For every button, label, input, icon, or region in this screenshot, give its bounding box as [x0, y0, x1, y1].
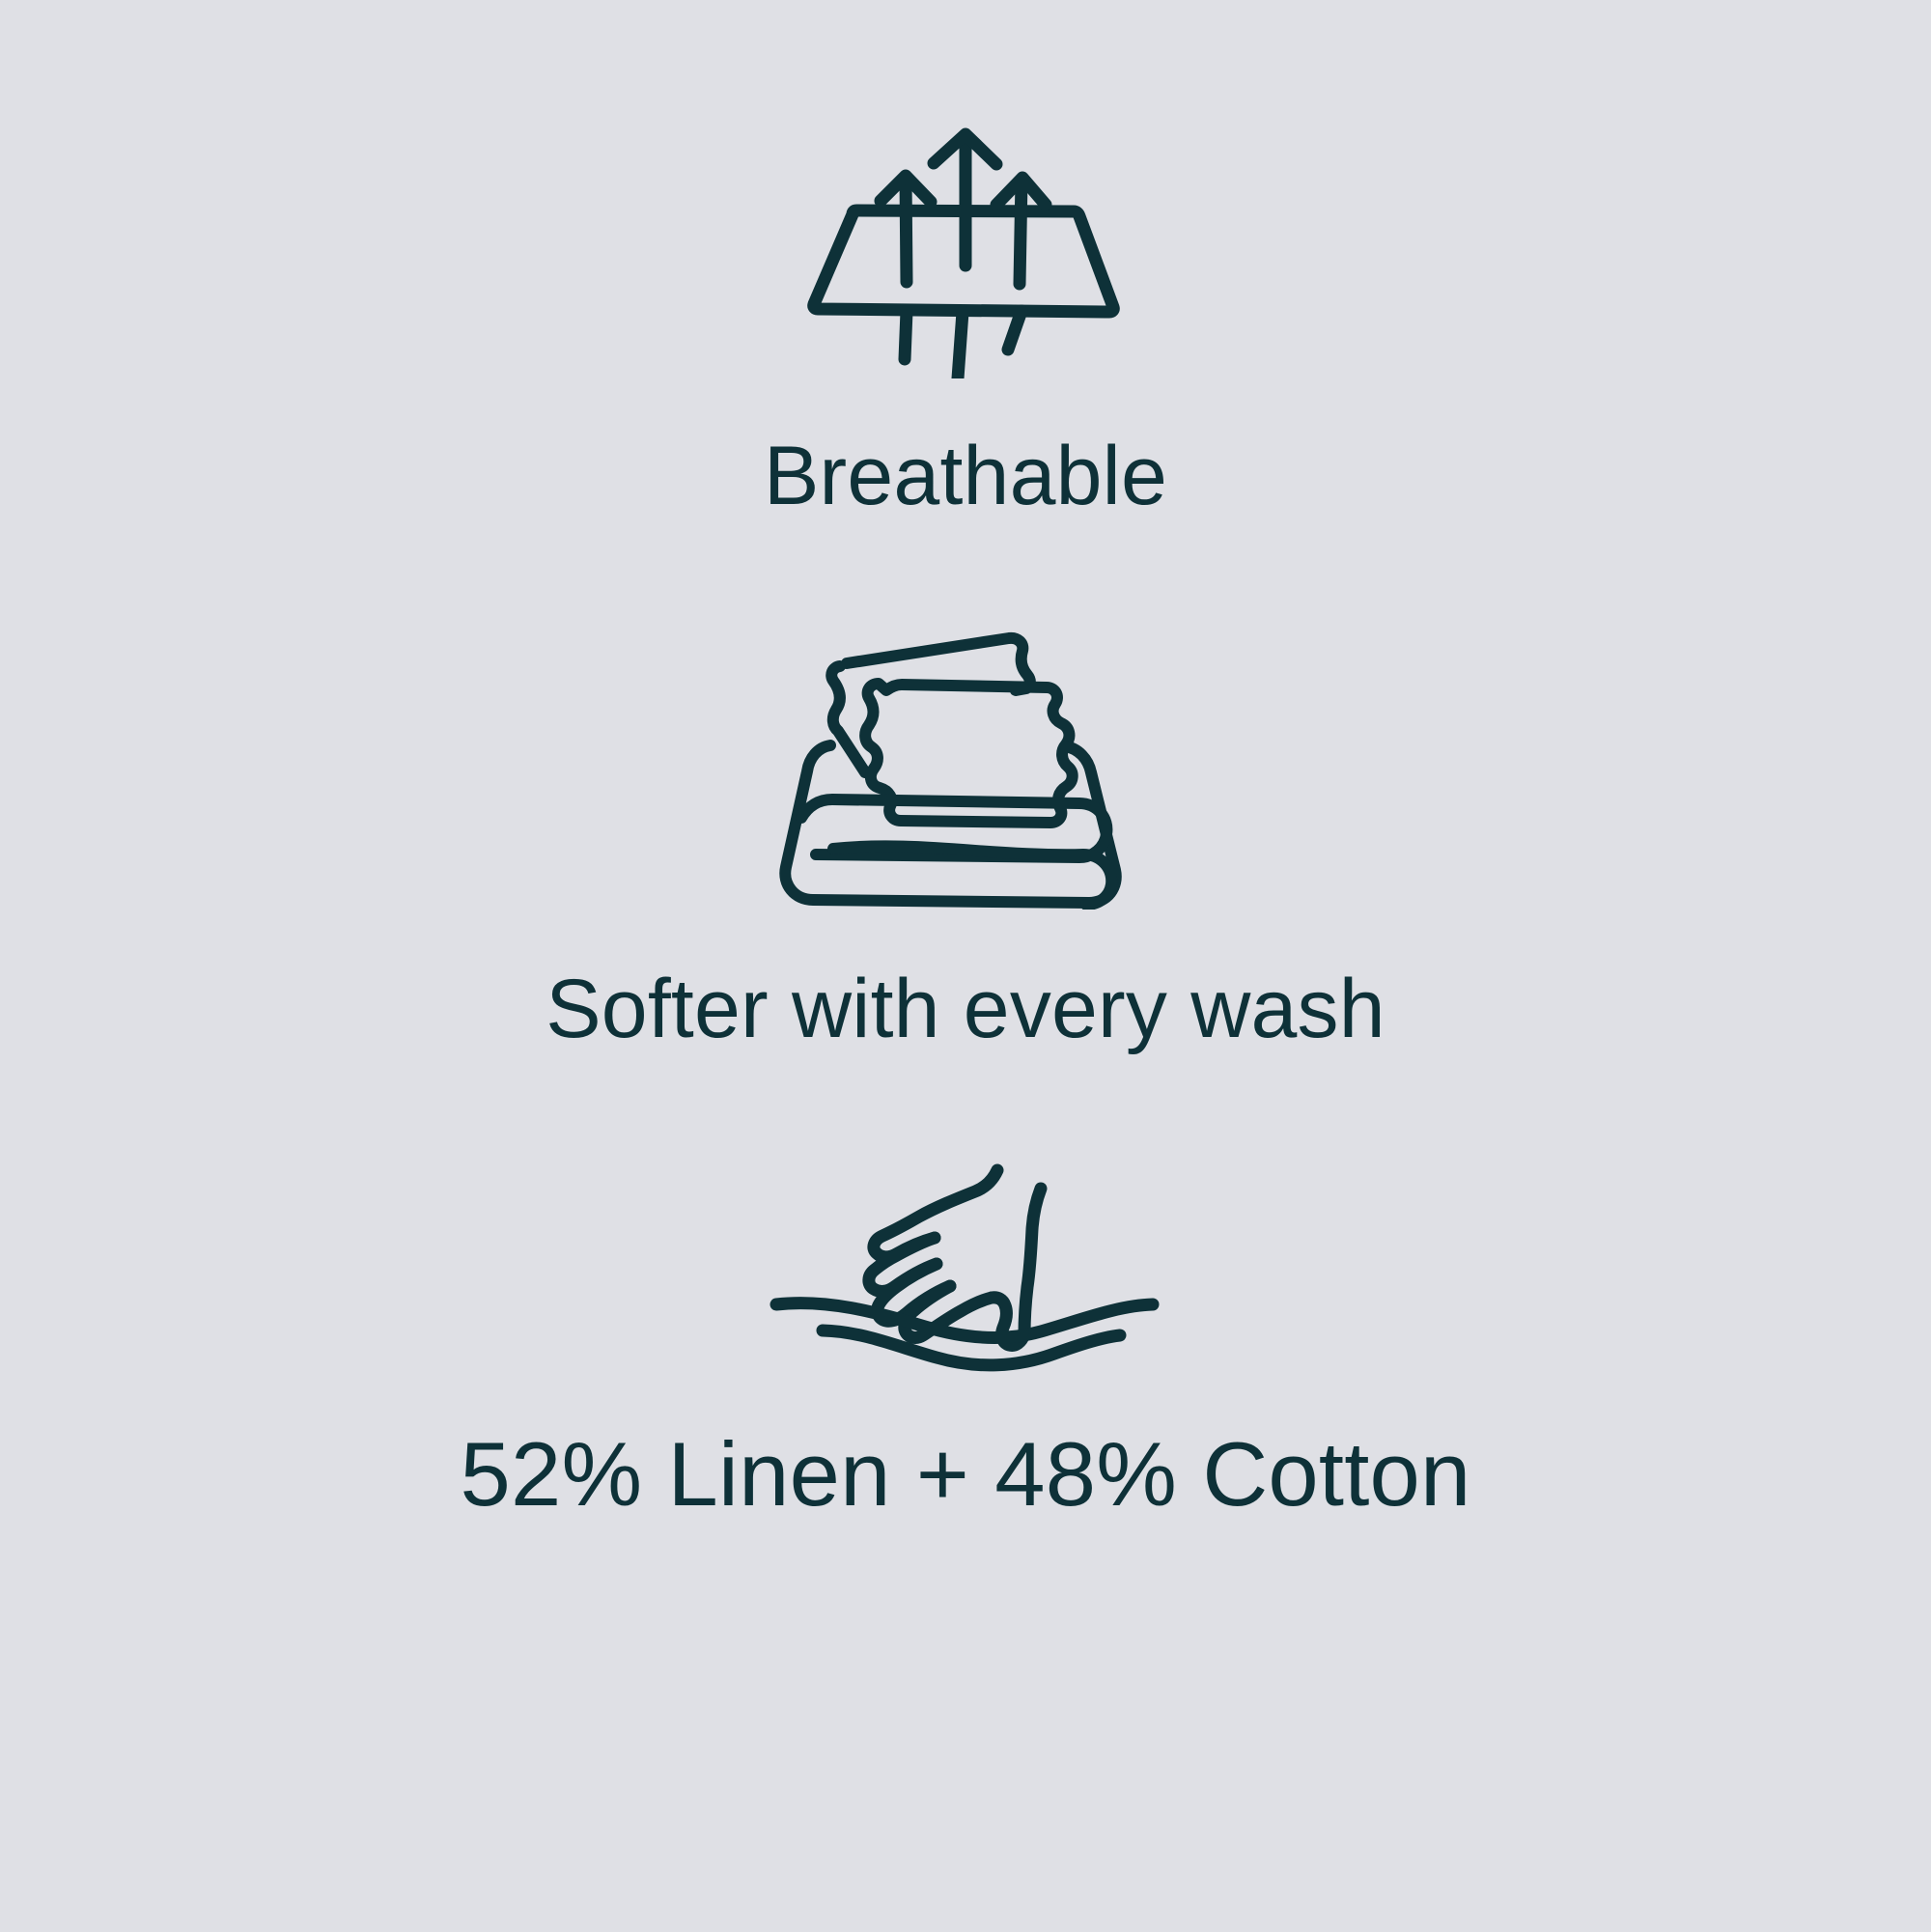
feature-block-blend: 52% Linen + 48% Cotton [0, 1157, 1931, 1520]
feature-caption-softer: Softer with every wash [546, 967, 1385, 1050]
feature-caption-breathable: Breathable [764, 434, 1167, 518]
feature-block-softer: Softer with every wash [0, 620, 1931, 1050]
folded-bedding-pillows-icon [772, 620, 1159, 910]
feature-caption-blend: 52% Linen + 48% Cotton [461, 1429, 1471, 1520]
breathable-airflow-icon [792, 118, 1139, 378]
feature-highlights-panel: Breathable Softer with every wash [0, 0, 1931, 1932]
hand-touching-fabric-icon [763, 1157, 1168, 1379]
feature-block-breathable: Breathable [0, 118, 1931, 518]
